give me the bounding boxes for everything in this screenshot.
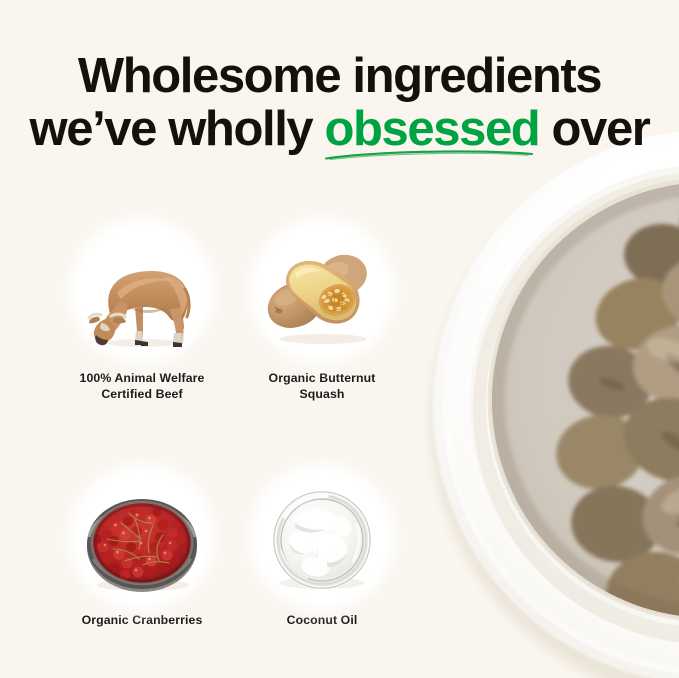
grazing-cow-photo (77, 231, 207, 361)
glass-jar-of-coconut-oil-photo (257, 477, 387, 607)
ingredient-card-coconut-oil[interactable]: Coconut Oil (232, 464, 412, 628)
promo-banner: Wholesome ingredients we’ve wholly obses… (0, 0, 679, 678)
ingredient-row-2: Organic Cranberries (52, 464, 412, 628)
ingredient-row-1: 100% Animal Welfare Certified Beef (52, 218, 412, 402)
ingredient-card-beef[interactable]: 100% Animal Welfare Certified Beef (52, 218, 232, 402)
ingredient-card-butternut-squash[interactable]: Organic Butternut Squash (232, 218, 412, 402)
ingredient-image-coconut-oil (244, 464, 400, 620)
ingredient-image-beef (64, 218, 220, 374)
ingredient-label: Organic Butternut Squash (269, 370, 376, 402)
headline-line2-after: over (539, 102, 649, 156)
ingredient-card-cranberries[interactable]: Organic Cranberries (52, 464, 232, 628)
ingredient-grid: 100% Animal Welfare Certified Beef (52, 218, 412, 628)
headline-line2-before: we’ve wholly (30, 102, 325, 156)
white-bowl-of-kibble-photo (424, 128, 679, 678)
butternut-squash-halved-photo (257, 231, 387, 361)
headline-line-2: we’ve wholly obsessed over (0, 103, 679, 156)
headline-line-1: Wholesome ingredients (0, 50, 679, 103)
ingredient-label: 100% Animal Welfare Certified Beef (80, 370, 205, 402)
page-title: Wholesome ingredients we’ve wholly obses… (0, 50, 679, 156)
ingredient-image-butternut-squash (244, 218, 400, 374)
bowl-of-red-cranberries-photo (77, 477, 207, 607)
ingredient-image-cranberries (64, 464, 220, 620)
headline-highlight-word: obsessed (324, 102, 539, 156)
